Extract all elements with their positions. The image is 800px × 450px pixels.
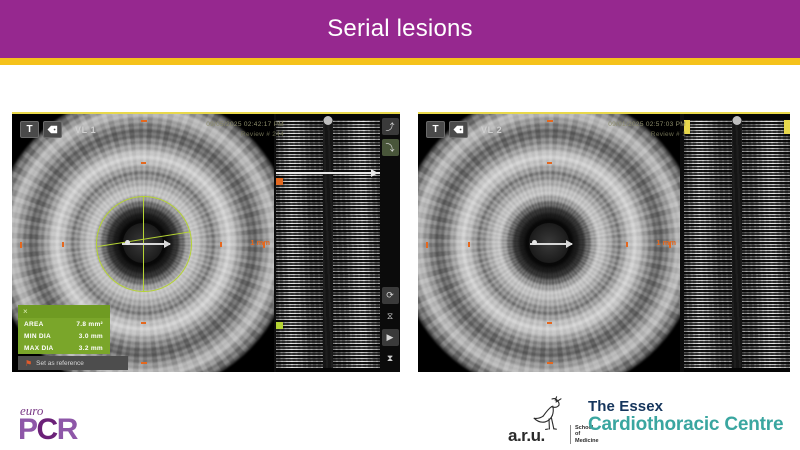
tick-inner-left — [468, 242, 470, 247]
set-as-reference-button[interactable]: ⚑ Set as reference — [18, 356, 128, 370]
measurement-label: MAX DIA — [24, 345, 54, 352]
panel-label-vl1: VL 1 — [75, 125, 96, 135]
split-horizontal-icon[interactable]: ⤵ — [382, 139, 399, 156]
essex-cardiothoracic-logo: The Essex Cardiothoracic Centre — [588, 399, 783, 435]
split-vertical-icon[interactable]: ⤴ — [382, 118, 399, 135]
measurement-card-close[interactable]: × — [18, 305, 110, 318]
refresh-icon[interactable]: ⟳ — [382, 287, 399, 304]
panel-label-vl2: VL 2 — [481, 125, 502, 135]
review-number-vl1: Review # 244 — [206, 130, 284, 140]
scale-label-vl2: 1 mm — [656, 238, 676, 247]
tag-icon-svg — [453, 125, 464, 134]
tick-bottom — [547, 362, 553, 364]
timestamp-vl1: 09/05/2025 02:42:17 PM — [206, 120, 284, 130]
marker-green[interactable] — [276, 322, 283, 329]
measurement-value: 3.0 mm — [79, 333, 103, 340]
panel-toolbar-vl2[interactable]: T VL 2 — [426, 121, 502, 138]
tick-inner-top — [141, 162, 146, 164]
panel-meta-vl1: 09/05/2025 02:42:17 PM Review # 244 — [206, 120, 284, 140]
tick-left — [20, 242, 22, 248]
play-icon[interactable]: ▶ — [382, 329, 399, 346]
measurement-value: 3.2 mm — [79, 345, 103, 352]
measurement-origin-dot — [125, 240, 130, 245]
side-toolbar-vl1[interactable]: ⤴ ⤵ ⟳ ⧖ ▶ ⧗ — [380, 114, 400, 372]
aru-school-line2: Medicine — [575, 438, 599, 444]
bookmark-end-icon[interactable]: ⧗ — [382, 350, 399, 367]
tick-inner-left — [62, 242, 64, 247]
slide-header: Serial lesions — [0, 0, 800, 58]
panel-meta-vl2: 09/01/2025 02:57:03 PM Review # 1 — [608, 120, 686, 140]
page-title: Serial lesions — [327, 15, 473, 43]
essex-logo-line1: The Essex — [588, 399, 783, 415]
review-number-vl2: Review # 1 — [608, 130, 686, 140]
text-annotation-icon[interactable]: T — [20, 121, 39, 138]
ivus-panel-vl2[interactable]: 1 mm T VL 2 09/01/2025 02:57:03 PM Revie… — [418, 112, 790, 372]
measurement-card-vl1[interactable]: × AREA 7.8 mm² MIN DIA 3.0 mm MAX DIA 3.… — [18, 305, 110, 354]
pullback-handle[interactable] — [324, 116, 333, 125]
text-annotation-icon[interactable]: T — [426, 121, 445, 138]
europcr-pcr-text: PCR — [18, 415, 77, 445]
tick-inner-right — [220, 242, 222, 247]
pcr-letter-p: P — [18, 413, 37, 446]
longitudinal-view-vl1[interactable] — [276, 114, 380, 372]
measurement-value: 7.8 mm² — [76, 321, 103, 328]
measurement-origin-dot — [532, 240, 537, 245]
tag-icon[interactable] — [449, 121, 468, 138]
tick-inner-right — [626, 242, 628, 247]
pcr-letter-r: R — [57, 413, 77, 446]
bookmark-start-icon[interactable]: ⧖ — [382, 308, 399, 325]
reference-flag-icon: ⚑ — [25, 359, 32, 368]
tick-inner-top — [547, 162, 552, 164]
longitudinal-speckle — [276, 120, 380, 368]
heron-bird-icon — [528, 396, 568, 430]
pullback-handle[interactable] — [733, 116, 742, 125]
scale-label-vl1: 1 mm — [250, 238, 270, 247]
ivus-panel-vl1[interactable]: 1 mm T VL 1 09/05/2025 02:42:17 PM Revie… — [12, 112, 400, 372]
tick-inner-bottom — [547, 322, 552, 324]
aru-logo: a.r.u. School of Medicine — [508, 396, 600, 446]
set-as-reference-label: Set as reference — [36, 360, 84, 367]
longitudinal-view-vl2[interactable] — [684, 114, 790, 372]
measurement-label: AREA — [24, 321, 44, 328]
table-row: MIN DIA 3.0 mm — [18, 330, 110, 342]
cross-sectional-view-vl2[interactable]: 1 mm — [418, 114, 680, 372]
measurement-label: MIN DIA — [24, 333, 51, 340]
panel-toolbar-vl1[interactable]: T VL 1 — [20, 121, 96, 138]
tick-inner-bottom — [141, 322, 146, 324]
tick-left — [426, 242, 428, 248]
header-divider — [0, 58, 800, 65]
table-row: AREA 7.8 mm² — [18, 318, 110, 330]
pcr-letter-c: C — [37, 413, 57, 446]
tick-bottom — [141, 362, 147, 364]
essex-logo-line2: Cardiothoracic Centre — [588, 415, 783, 435]
europcr-logo: euro PCR — [18, 404, 77, 445]
aru-wordmark: a.r.u. — [508, 426, 545, 446]
longitudinal-speckle — [684, 120, 790, 368]
table-row: MAX DIA 3.2 mm — [18, 342, 110, 354]
marker-yellow-right[interactable] — [784, 120, 790, 134]
tag-icon[interactable] — [43, 121, 62, 138]
timestamp-vl2: 09/01/2025 02:57:03 PM — [608, 120, 686, 130]
tick-top — [141, 120, 147, 122]
tag-icon-svg — [47, 125, 58, 134]
frame-cursor-line[interactable] — [276, 172, 380, 174]
marker-orange[interactable] — [276, 178, 283, 185]
tick-top — [547, 120, 553, 122]
